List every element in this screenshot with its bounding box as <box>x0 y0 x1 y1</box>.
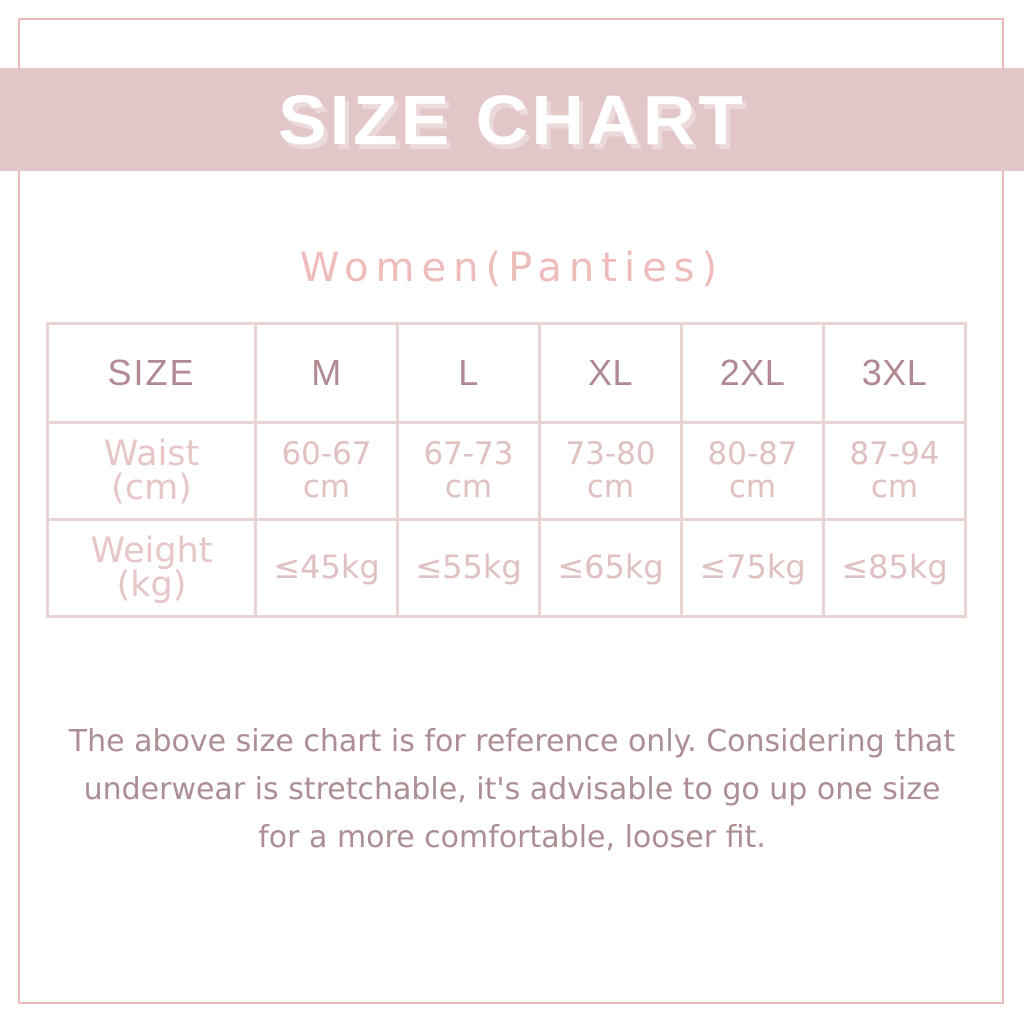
cell-waist-l-unit: cm <box>399 471 538 504</box>
cell-waist-3xl-unit: cm <box>825 471 964 504</box>
cell-weight-3xl-value: ≤85kg <box>825 551 964 585</box>
table-header-cell-2xl: 2XL <box>682 324 824 423</box>
disclaimer-note: The above size chart is for reference on… <box>62 718 962 862</box>
cell-waist-xl: 73-80 cm <box>540 423 682 520</box>
table-header-cell-size: SIZE <box>48 324 256 423</box>
row-label-waist-text: Waist <box>49 437 254 471</box>
table-header-row: SIZE M L XL 2XL 3XL <box>48 324 966 423</box>
table-header-cell-l: L <box>398 324 540 423</box>
table-header-cell-xl: XL <box>540 324 682 423</box>
cell-weight-l-value: ≤55kg <box>399 551 538 585</box>
cell-weight-2xl: ≤75kg <box>682 520 824 617</box>
cell-weight-l: ≤55kg <box>398 520 540 617</box>
title-banner: SIZE CHART <box>0 68 1024 171</box>
row-label-weight-text: Weight <box>49 534 254 568</box>
header-label-m: M <box>257 354 396 392</box>
header-label-size: SIZE <box>49 354 254 392</box>
cell-waist-xl-value: 73-80 <box>541 438 680 471</box>
header-label-3xl: 3XL <box>825 354 964 392</box>
header-label-xl: XL <box>541 354 680 392</box>
cell-waist-l-value: 67-73 <box>399 438 538 471</box>
row-label-weight-unit: (kg) <box>49 568 254 602</box>
page-title: SIZE CHART <box>278 85 746 155</box>
row-label-weight: Weight (kg) <box>48 520 256 617</box>
table-row-waist: Waist (cm) 60-67 cm 67-73 cm 73-80 cm 80… <box>48 423 966 520</box>
cell-weight-xl-value: ≤65kg <box>541 551 680 585</box>
cell-waist-2xl-value: 80-87 <box>683 438 822 471</box>
row-label-waist: Waist (cm) <box>48 423 256 520</box>
chart-subtitle: Women(Panties) <box>0 248 1024 288</box>
cell-waist-xl-unit: cm <box>541 471 680 504</box>
cell-weight-2xl-value: ≤75kg <box>683 551 822 585</box>
cell-waist-m-value: 60-67 <box>257 438 396 471</box>
cell-waist-2xl: 80-87 cm <box>682 423 824 520</box>
size-chart-page: SIZE CHART Women(Panties) SIZE M L <box>0 0 1024 1024</box>
cell-waist-2xl-unit: cm <box>683 471 822 504</box>
cell-weight-m: ≤45kg <box>256 520 398 617</box>
header-label-l: L <box>399 354 538 392</box>
cell-weight-xl: ≤65kg <box>540 520 682 617</box>
row-label-waist-unit: (cm) <box>49 471 254 505</box>
cell-waist-3xl-value: 87-94 <box>825 438 964 471</box>
cell-waist-m-unit: cm <box>257 471 396 504</box>
cell-weight-m-value: ≤45kg <box>257 551 396 585</box>
cell-waist-m: 60-67 cm <box>256 423 398 520</box>
table-header-cell-m: M <box>256 324 398 423</box>
cell-waist-3xl: 87-94 cm <box>824 423 966 520</box>
table-header-cell-3xl: 3XL <box>824 324 966 423</box>
header-label-2xl: 2XL <box>683 354 822 392</box>
cell-weight-3xl: ≤85kg <box>824 520 966 617</box>
cell-waist-l: 67-73 cm <box>398 423 540 520</box>
table-row-weight: Weight (kg) ≤45kg ≤55kg ≤65kg ≤75kg ≤85k… <box>48 520 966 617</box>
size-chart-table: SIZE M L XL 2XL 3XL <box>46 322 967 618</box>
